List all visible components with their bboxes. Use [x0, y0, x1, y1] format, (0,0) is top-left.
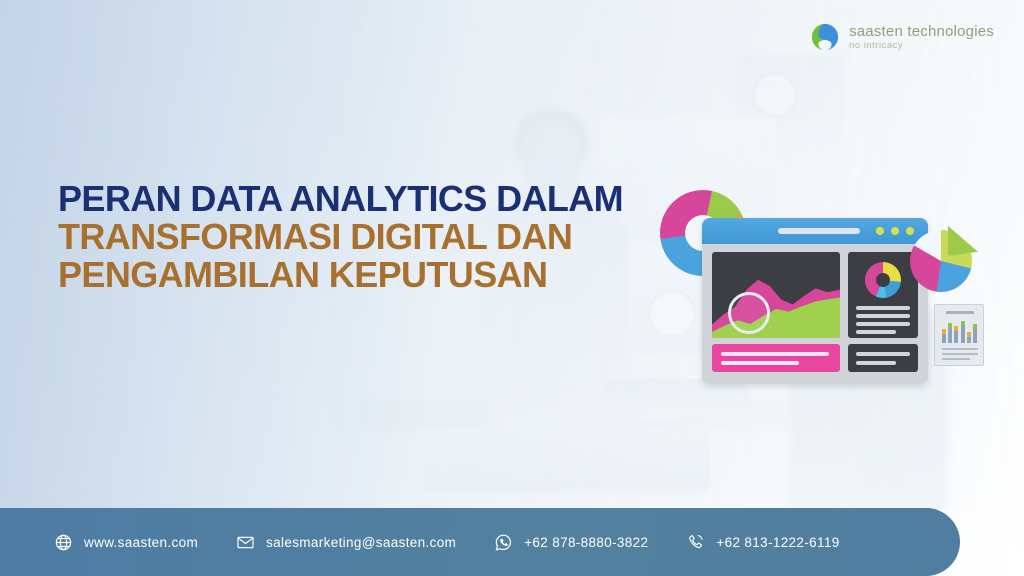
brand-logo: saasten technologies no intricacy: [810, 22, 994, 52]
window-dot-icon-1: [876, 227, 884, 235]
whatsapp-icon: [494, 533, 513, 552]
contact-whatsapp[interactable]: +62 878-8880-3822: [494, 533, 648, 552]
window-title-bar: [702, 218, 928, 244]
contact-email[interactable]: salesmarketing@saasten.com: [236, 533, 456, 552]
headline-line-2: TRANSFORMASI DIGITAL DAN: [58, 218, 678, 256]
footer-contact-bar: www.saasten.com salesmarketing@saasten.c…: [0, 508, 960, 576]
saasten-s-circle-icon: [810, 22, 840, 52]
whatsapp-label: +62 878-8880-3822: [524, 535, 648, 550]
logo-tagline: no intricacy: [849, 41, 994, 51]
magnifying-glass-icon: [728, 292, 770, 334]
phone-label: +62 813-1222-6119: [716, 535, 839, 550]
email-label: salesmarketing@saasten.com: [266, 535, 456, 550]
area-chart-panel: [712, 252, 840, 338]
dashboard-window: [702, 218, 928, 384]
headline-line-3: PENGAMBILAN KEPUTUSAN: [58, 256, 678, 294]
text-panel: [848, 344, 918, 372]
envelope-icon: [236, 533, 255, 552]
contact-phone[interactable]: +62 813-1222-6119: [686, 533, 839, 552]
window-dot-icon-2: [891, 227, 899, 235]
headline-line-1: PERAN DATA ANALYTICS DALAM: [58, 180, 678, 218]
marketing-banner: saasten technologies no intricacy PERAN …: [0, 0, 1024, 576]
report-document-icon: [934, 304, 984, 366]
donut-chart-icon-small: [865, 262, 901, 298]
window-dot-icon-3: [906, 227, 914, 235]
address-bar: [778, 228, 860, 234]
globe-icon: [54, 533, 73, 552]
pie-exploded-slice: [948, 226, 978, 256]
contact-website[interactable]: www.saasten.com: [54, 533, 198, 552]
analytics-illustration: [648, 186, 1004, 396]
highlight-panel: [712, 344, 840, 372]
website-label: www.saasten.com: [84, 535, 198, 550]
donut-stats-panel: [848, 252, 918, 338]
phone-icon: [686, 533, 705, 552]
logo-company-name: saasten technologies: [849, 24, 994, 39]
headline-block: PERAN DATA ANALYTICS DALAM TRANSFORMASI …: [58, 180, 678, 294]
